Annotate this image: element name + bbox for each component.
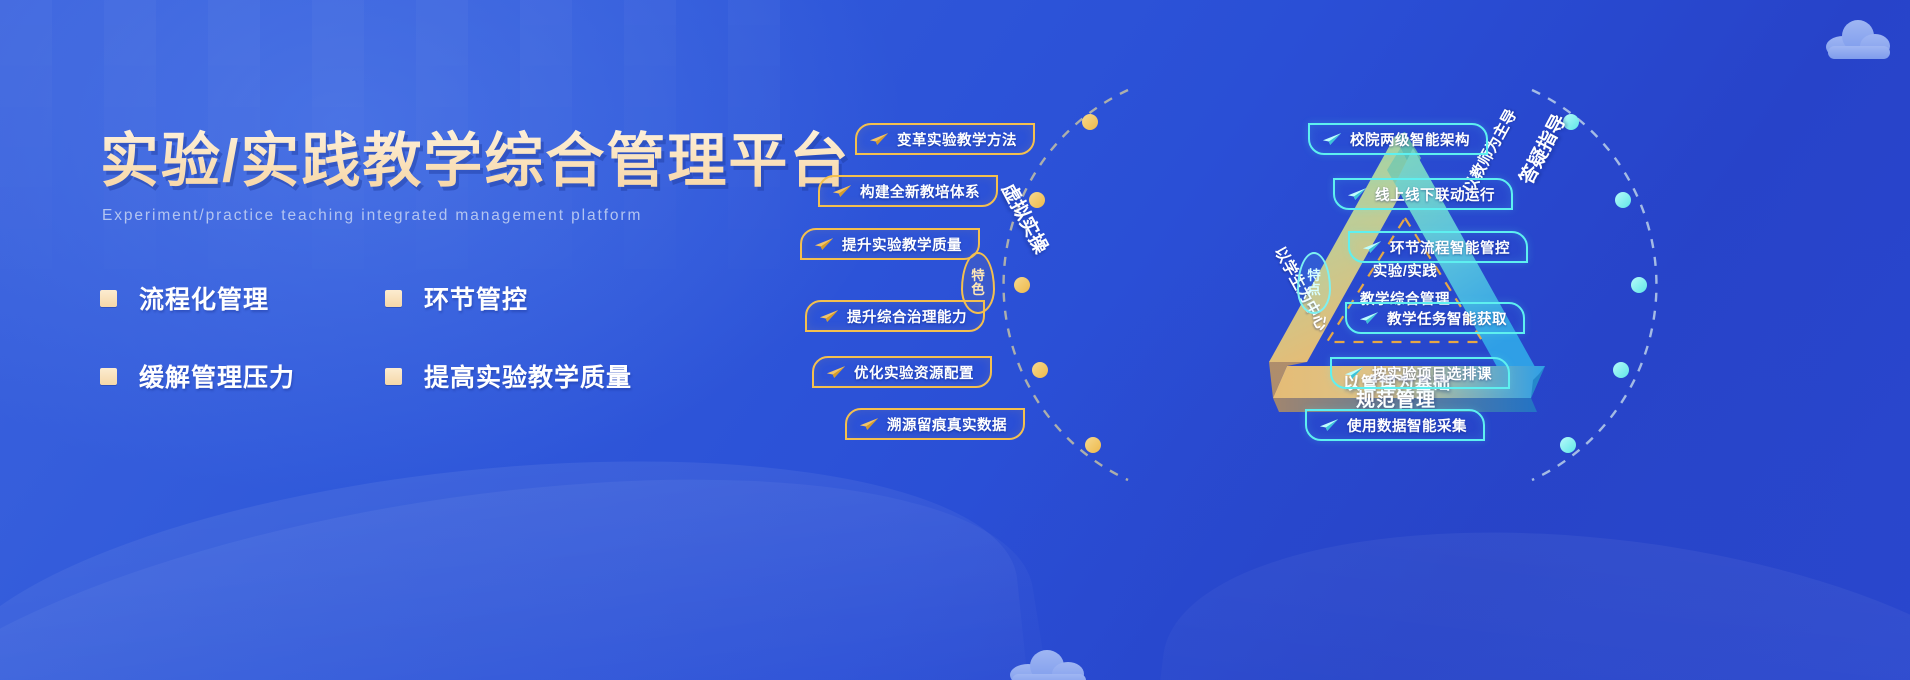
paper-plane-icon [859, 417, 879, 431]
arc-dot-cyan [1613, 362, 1629, 378]
callout-label: 变革实验教学方法 [897, 129, 1017, 150]
arc-dot-gold [1032, 362, 1048, 378]
paper-plane-icon [1322, 132, 1342, 146]
arc-dot-gold [1082, 114, 1098, 130]
paper-plane-icon [1359, 311, 1379, 325]
bullet-row: 流程化管理 环节管控 [100, 280, 700, 316]
arc-dot-cyan [1615, 192, 1631, 208]
paper-plane-icon [1319, 418, 1339, 432]
paper-plane-icon [819, 309, 839, 323]
bullet-item-1: 环节管控 [385, 280, 670, 316]
bullet-row: 缓解管理压力 提高实验教学质量 [100, 358, 700, 394]
callout-label: 使用数据智能采集 [1347, 415, 1467, 436]
bullet-item-2: 缓解管理压力 [100, 358, 385, 394]
callout-label: 优化实验资源配置 [854, 362, 974, 383]
paper-plane-icon [1347, 187, 1367, 201]
badge-right-line-2: 点 [1307, 283, 1321, 297]
callout-right-4[interactable]: 按实验项目选排课 [1330, 357, 1510, 389]
callout-label: 构建全新教培体系 [860, 181, 980, 202]
callout-label: 提升综合治理能力 [847, 306, 967, 327]
feature-bullets: 流程化管理 环节管控 缓解管理压力 提高实验教学质量 [100, 280, 700, 436]
callout-left-2[interactable]: 提升实验教学质量 [800, 228, 980, 260]
callout-label: 溯源留痕真实数据 [887, 414, 1007, 435]
callout-left-0[interactable]: 变革实验教学方法 [855, 123, 1035, 155]
paper-plane-icon [1362, 240, 1382, 254]
triangle-caption: 规范管理 [1356, 385, 1436, 412]
bullet-item-0: 流程化管理 [100, 280, 385, 316]
callout-right-0[interactable]: 校院两级智能架构 [1308, 123, 1488, 155]
banner-root: 实验/实践教学综合管理平台 Experiment/practice teachi… [0, 0, 1910, 680]
arc-dot-gold [1014, 277, 1030, 293]
callout-label: 线上线下联动运行 [1375, 184, 1495, 205]
page-subtitle: Experiment/practice teaching integrated … [102, 207, 642, 225]
bullet-item-3: 提高实验教学质量 [385, 358, 670, 394]
cloud-icon-bottom [1010, 650, 1088, 680]
square-bullet-icon [100, 368, 117, 385]
callout-right-2[interactable]: 环节流程智能管控 [1348, 231, 1528, 263]
paper-plane-icon [826, 365, 846, 379]
square-bullet-icon [100, 290, 117, 307]
callout-left-3[interactable]: 提升综合治理能力 [805, 300, 985, 332]
callout-left-5[interactable]: 溯源留痕真实数据 [845, 408, 1025, 440]
square-bullet-icon [385, 290, 402, 307]
cloud-icon-top-right [1826, 20, 1892, 58]
bullet-label: 缓解管理压力 [139, 358, 295, 394]
callout-label: 提升实验教学质量 [842, 234, 962, 255]
callout-left-1[interactable]: 构建全新教培体系 [818, 175, 998, 207]
bullet-label: 提高实验教学质量 [424, 358, 632, 394]
bullet-label: 流程化管理 [139, 280, 269, 316]
paper-plane-icon [814, 237, 834, 251]
triangle-center-line-1: 实验/实践 [1245, 260, 1565, 281]
badge-right-line-1: 特 [1307, 269, 1321, 283]
square-bullet-icon [385, 368, 402, 385]
callout-label: 教学任务智能获取 [1387, 308, 1507, 329]
background-wave-2 [0, 410, 1061, 680]
paper-plane-icon [832, 184, 852, 198]
callout-right-5[interactable]: 使用数据智能采集 [1305, 409, 1485, 441]
callout-left-4[interactable]: 优化实验资源配置 [812, 356, 992, 388]
arc-dot-gold [1085, 437, 1101, 453]
callout-right-3[interactable]: 教学任务智能获取 [1345, 302, 1525, 334]
callout-right-1[interactable]: 线上线下联动运行 [1333, 178, 1513, 210]
arc-dot-cyan [1560, 437, 1576, 453]
background-wave-1 [0, 414, 1034, 680]
page-title: 实验/实践教学综合管理平台 [100, 126, 850, 197]
badge-left-line-1: 特 [971, 269, 985, 283]
badge-left-line-2: 色 [971, 283, 985, 297]
callout-label: 环节流程智能管控 [1390, 237, 1510, 258]
callout-label: 校院两级智能架构 [1350, 129, 1470, 150]
paper-plane-icon [1344, 366, 1364, 380]
bullet-label: 环节管控 [424, 280, 528, 316]
paper-plane-icon [869, 132, 889, 146]
arc-dot-cyan [1631, 277, 1647, 293]
callout-label: 按实验项目选排课 [1372, 363, 1492, 384]
background-wave-3 [1143, 486, 1910, 680]
